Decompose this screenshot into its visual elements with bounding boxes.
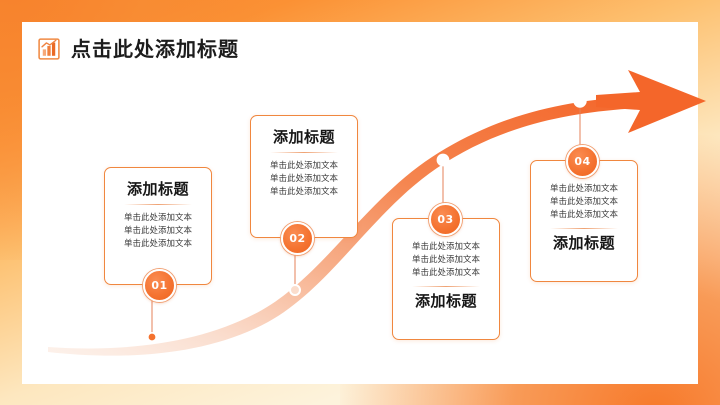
step-divider-01 [124, 204, 193, 205]
step-badge-03[interactable]: 03 [429, 203, 462, 236]
step-card-04[interactable]: 单击此处添加文本 单击此处添加文本 单击此处添加文本 添加标题 [530, 160, 638, 282]
step-line: 单击此处添加文本 [550, 196, 618, 208]
step-line: 单击此处添加文本 [412, 254, 480, 266]
step-title-02: 添加标题 [273, 129, 335, 146]
step-lines-03: 单击此处添加文本 单击此处添加文本 单击此处添加文本 [412, 241, 480, 279]
step-lines-01: 单击此处添加文本 单击此处添加文本 单击此处添加文本 [124, 212, 192, 250]
step-divider-02 [270, 152, 339, 153]
step-line: 单击此处添加文本 [412, 241, 480, 253]
step-line: 单击此处添加文本 [412, 267, 480, 279]
bar-chart-icon [38, 38, 60, 60]
step-divider-04 [550, 228, 619, 229]
step-lines-04: 单击此处添加文本 单击此处添加文本 单击此处添加文本 [550, 183, 618, 221]
step-line: 单击此处添加文本 [550, 209, 618, 221]
step-badge-04[interactable]: 04 [566, 145, 599, 178]
step-line: 单击此处添加文本 [124, 238, 192, 250]
step-line: 单击此处添加文本 [550, 183, 618, 195]
page-title: 点击此处添加标题 [71, 39, 239, 59]
slide-canvas: 点击此处添加标题 添加标题 单击此 [0, 0, 720, 405]
step-card-02[interactable]: 添加标题 单击此处添加文本 单击此处添加文本 单击此处添加文本 [250, 115, 358, 238]
step-badge-02[interactable]: 02 [281, 222, 314, 255]
step-divider-03 [412, 286, 481, 287]
step-line: 单击此处添加文本 [270, 173, 338, 185]
step-title-04: 添加标题 [553, 235, 615, 252]
step-card-03[interactable]: 单击此处添加文本 单击此处添加文本 单击此处添加文本 添加标题 [392, 218, 500, 340]
step-line: 单击此处添加文本 [124, 225, 192, 237]
step-badge-01[interactable]: 01 [143, 269, 176, 302]
slide-header: 点击此处添加标题 [38, 38, 239, 60]
step-title-01: 添加标题 [127, 181, 189, 198]
step-lines-02: 单击此处添加文本 单击此处添加文本 单击此处添加文本 [270, 160, 338, 198]
step-line: 单击此处添加文本 [124, 212, 192, 224]
step-card-01[interactable]: 添加标题 单击此处添加文本 单击此处添加文本 单击此处添加文本 [104, 167, 212, 285]
step-line: 单击此处添加文本 [270, 186, 338, 198]
step-line: 单击此处添加文本 [270, 160, 338, 172]
step-title-03: 添加标题 [415, 293, 477, 310]
